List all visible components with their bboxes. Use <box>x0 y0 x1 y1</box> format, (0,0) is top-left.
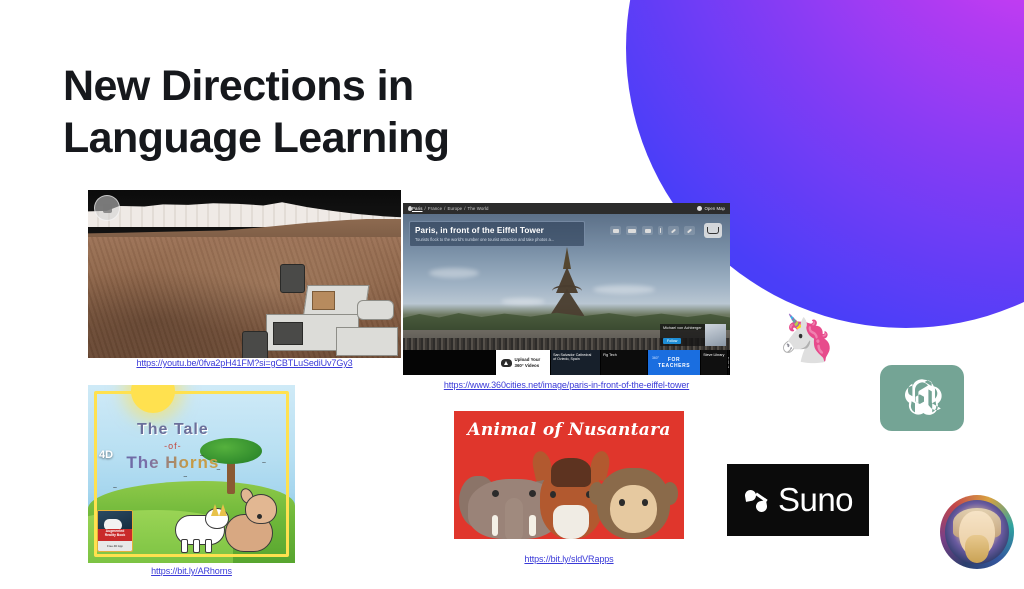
presentation-slide: New Directions in Language Learning http… <box>0 0 1024 589</box>
edit-icon[interactable] <box>668 226 679 235</box>
curiosity-rover <box>228 258 401 358</box>
panorama-caption-card: Paris, in front of the Eiffel Tower Tour… <box>409 221 585 247</box>
globe-icon <box>697 206 702 211</box>
strip-info[interactable]: i <box>728 350 730 375</box>
author-name: Michael von Achberger <box>663 326 702 330</box>
panorama-description: Tourists flock to the world's number one… <box>415 237 579 242</box>
info-icon[interactable]: i <box>728 357 730 368</box>
avatar <box>705 324 726 346</box>
nusantara-title: Animal of Nusantara <box>454 420 684 440</box>
strip-item[interactable] <box>403 350 496 375</box>
cloud <box>593 285 655 294</box>
media-nusantara-app[interactable]: Animal of Nusantara <box>454 411 684 539</box>
strip-item-oviedo[interactable]: San Salvador Cathedral of Oviedo, Spain <box>551 350 601 375</box>
vr-goggles-icon[interactable] <box>626 226 637 235</box>
strip-label: Upload Your 360° Videos <box>515 357 541 368</box>
breadcrumb-item-paris[interactable]: Paris <box>412 206 423 211</box>
strip-item-library[interactable]: Steve Library <box>701 350 728 375</box>
gallery-icon[interactable] <box>642 226 653 235</box>
strip-item-upload[interactable]: Upload Your 360° Videos <box>496 350 552 375</box>
media-mars-360-video[interactable] <box>88 190 401 358</box>
suno-wordmark: Suno <box>778 481 853 519</box>
breadcrumb-item-france[interactable]: France <box>428 206 442 211</box>
circular-avatar-logo <box>940 495 1014 569</box>
link-nusantara-app[interactable]: https://bit.ly/sldVRapps <box>454 554 684 564</box>
shopping-cart-icon[interactable] <box>704 223 722 238</box>
fullscreen-icon[interactable] <box>610 226 621 235</box>
360cities-topbar: Paris /France /Europe /The World Open Ma… <box>403 203 730 214</box>
unicorn-emoji: 🦄 <box>778 310 834 366</box>
open-map-button[interactable]: Open Map <box>697 206 725 211</box>
strip-label: FOR TEACHERS <box>658 357 690 369</box>
book-border <box>94 391 289 557</box>
monkey-illustration <box>592 461 675 539</box>
follow-button[interactable]: Follow <box>663 338 681 344</box>
strip-item-figtech[interactable]: Fig Tech <box>601 350 648 375</box>
thumbnail-strip[interactable]: Upload Your 360° Videos San Salvador Cat… <box>403 350 730 375</box>
open-map-label: Open Map <box>704 206 725 211</box>
link-eiffel-360-photo[interactable]: https://www.360cities.net/image/paris-in… <box>403 380 730 390</box>
page-title: New Directions in Language Learning <box>63 60 623 165</box>
upload-cloud-icon <box>501 359 512 367</box>
media-ar-book[interactable]: ~ ~ ~ ~ ~ The Tale -of- The Horns 4D Aug… <box>88 385 295 563</box>
cloud <box>501 298 545 305</box>
suno-logo: Suno <box>727 464 869 536</box>
breadcrumb-item-europe[interactable]: Europe <box>447 206 462 211</box>
strip-label: San Salvador Cathedral of Oviedo, Spain <box>553 353 591 362</box>
media-eiffel-360-photo[interactable]: Paris /France /Europe /The World Open Ma… <box>403 203 730 375</box>
panorama-toolbar[interactable] <box>610 223 722 238</box>
animal-illustrations <box>454 455 684 539</box>
link-icon[interactable] <box>684 226 695 235</box>
link-ar-book[interactable]: https://bit.ly/ARhorns <box>88 566 295 576</box>
panorama-title: Paris, in front of the Eiffel Tower <box>415 226 579 235</box>
link-mars-360-video[interactable]: https://youtu.be/0fva2pH41FM?si=gCBTLuSe… <box>88 358 401 368</box>
strip-label: Fig Tech <box>603 353 617 357</box>
cloud <box>429 268 479 278</box>
panorama-compass-icon[interactable] <box>94 195 120 221</box>
openai-logo <box>880 365 964 431</box>
eiffel-tower <box>545 245 589 323</box>
breadcrumb[interactable]: Paris /France /Europe /The World <box>412 206 489 211</box>
info-icon[interactable] <box>658 226 663 235</box>
suno-mark-icon <box>743 487 769 513</box>
author-card[interactable]: Michael von Achberger Follow <box>660 324 726 346</box>
breadcrumb-item-world[interactable]: The World <box>468 206 489 211</box>
strip-item-for-teachers[interactable]: 360° FOR TEACHERS <box>648 350 701 375</box>
strip-label: Steve Library <box>703 353 724 357</box>
